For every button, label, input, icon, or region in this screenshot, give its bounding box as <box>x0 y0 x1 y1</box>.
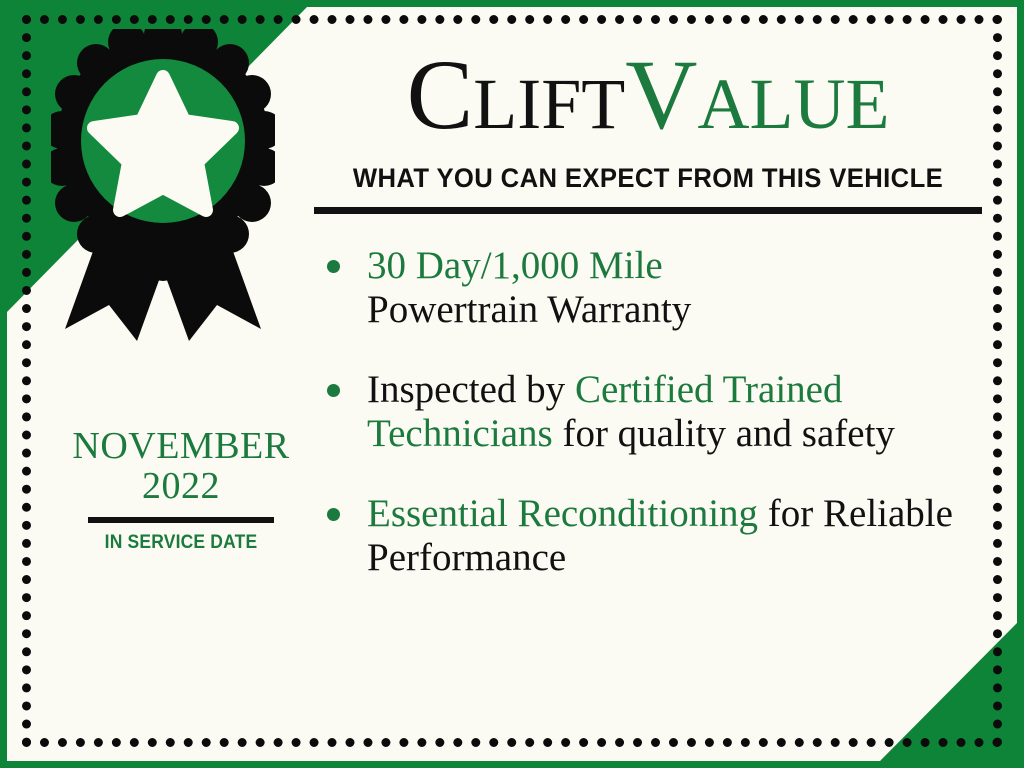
bullet-dot-icon <box>327 384 340 397</box>
in-service-year: 2022 <box>57 465 305 509</box>
bullet-dot-icon <box>327 508 340 521</box>
list-item: Inspected by Certified Trained Technicia… <box>327 368 993 456</box>
bullet-3-green: Essential Reconditioning <box>367 492 758 535</box>
in-service-month: NOVEMBER <box>57 427 305 465</box>
brand-word2-cap: V <box>625 39 697 150</box>
in-service-date-block: NOVEMBER 2022 IN SERVICE DATE <box>57 427 305 554</box>
brand-word1-cap: C <box>407 39 474 150</box>
bullet-2-tail: for quality and safety <box>553 412 895 455</box>
clift-value-card: NOVEMBER 2022 IN SERVICE DATE CLIFTVALUE… <box>0 0 1024 768</box>
brand-word2-rest: ALUE <box>697 64 889 144</box>
list-item: Essential Reconditioning for Reliable Pe… <box>327 492 993 580</box>
list-item: 30 Day/1,000 Mile Powertrain Warranty <box>327 244 993 332</box>
bullet-1-black: Powertrain Warranty <box>367 288 691 331</box>
in-service-date-label: IN SERVICE DATE <box>67 532 295 554</box>
bullet-2-lead: Inspected by <box>367 368 575 411</box>
brand-word1-rest: LIFT <box>473 64 625 144</box>
subtitle-divider <box>314 207 982 214</box>
brand-title: CLIFTVALUE <box>303 45 993 145</box>
card-inner-field: NOVEMBER 2022 IN SERVICE DATE CLIFTVALUE… <box>7 7 1017 761</box>
content-column: CLIFTVALUE WHAT YOU CAN EXPECT FROM THIS… <box>303 45 993 580</box>
in-service-divider <box>88 517 274 523</box>
bullet-dot-icon <box>327 260 340 273</box>
award-ribbon-star-icon <box>51 29 275 341</box>
bullet-1-green: 30 Day/1,000 Mile <box>367 244 663 287</box>
subtitle: WHAT YOU CAN EXPECT FROM THIS VEHICLE <box>320 163 976 194</box>
benefits-list: 30 Day/1,000 Mile Powertrain Warranty In… <box>303 244 993 580</box>
green-corner-bottom-right <box>880 623 1017 761</box>
